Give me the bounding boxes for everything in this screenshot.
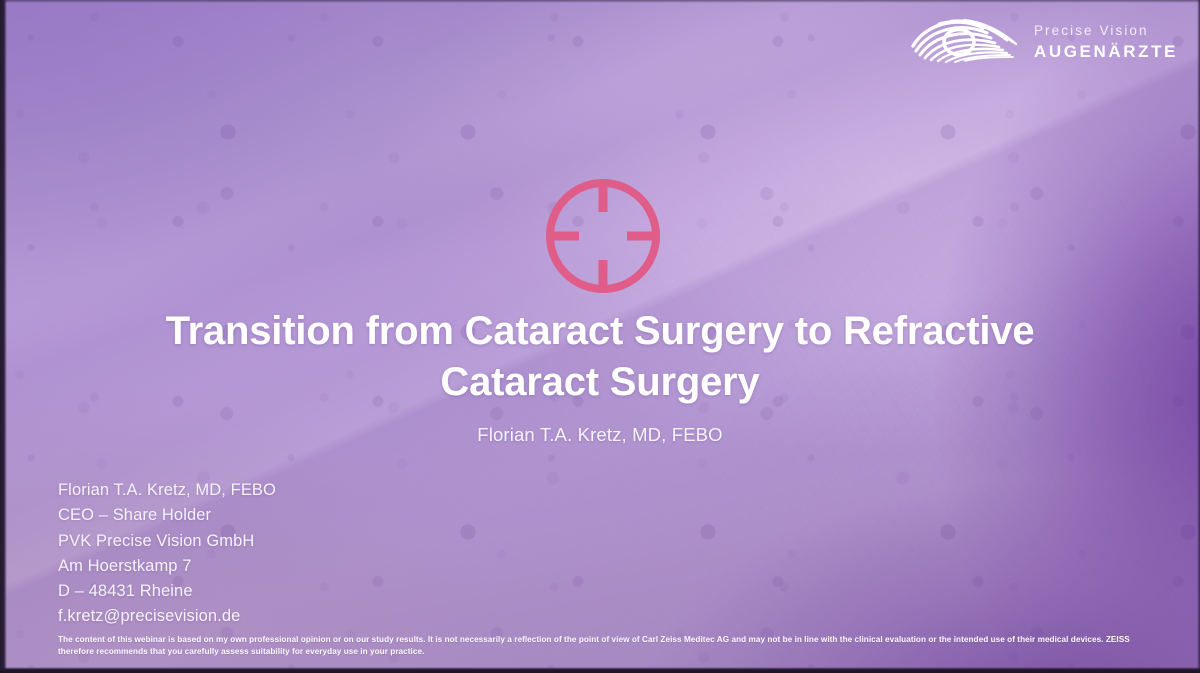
player-edge-top <box>0 0 1200 3</box>
brand-line-augenaerzte: AUGENÄRZTE <box>1034 43 1178 60</box>
brand-line-precise-vision: Precise Vision <box>1034 24 1149 38</box>
player-edge-left <box>0 0 7 673</box>
crosshair-target-icon <box>545 178 661 294</box>
disclaimer-text: The content of this webinar is based on … <box>58 634 1162 657</box>
contact-line-email: f.kretz@precisevision.de <box>58 604 276 629</box>
contact-line-company: PVK Precise Vision GmbH <box>58 529 276 554</box>
title-block: Transition from Cataract Surgery to Refr… <box>0 306 1200 446</box>
contact-line-name: Florian T.A. Kretz, MD, FEBO <box>58 478 276 503</box>
contact-line-city: D – 48431 Rheine <box>58 579 276 604</box>
eye-logo-icon <box>909 16 1021 66</box>
title-slide: Precise Vision AUGENÄRZTE Transition fro… <box>0 0 1200 673</box>
brand-wordmark: Precise Vision AUGENÄRZTE <box>1034 22 1178 60</box>
contact-block: Florian T.A. Kretz, MD, FEBO CEO – Share… <box>58 478 276 630</box>
slide-subtitle: Florian T.A. Kretz, MD, FEBO <box>0 424 1200 446</box>
player-edge-bottom <box>0 667 1200 673</box>
contact-line-role: CEO – Share Holder <box>58 503 276 528</box>
contact-line-street: Am Hoerstkamp 7 <box>58 554 276 579</box>
slide-title: Transition from Cataract Surgery to Refr… <box>100 306 1100 408</box>
brand-logo: Precise Vision AUGENÄRZTE <box>909 16 1178 66</box>
